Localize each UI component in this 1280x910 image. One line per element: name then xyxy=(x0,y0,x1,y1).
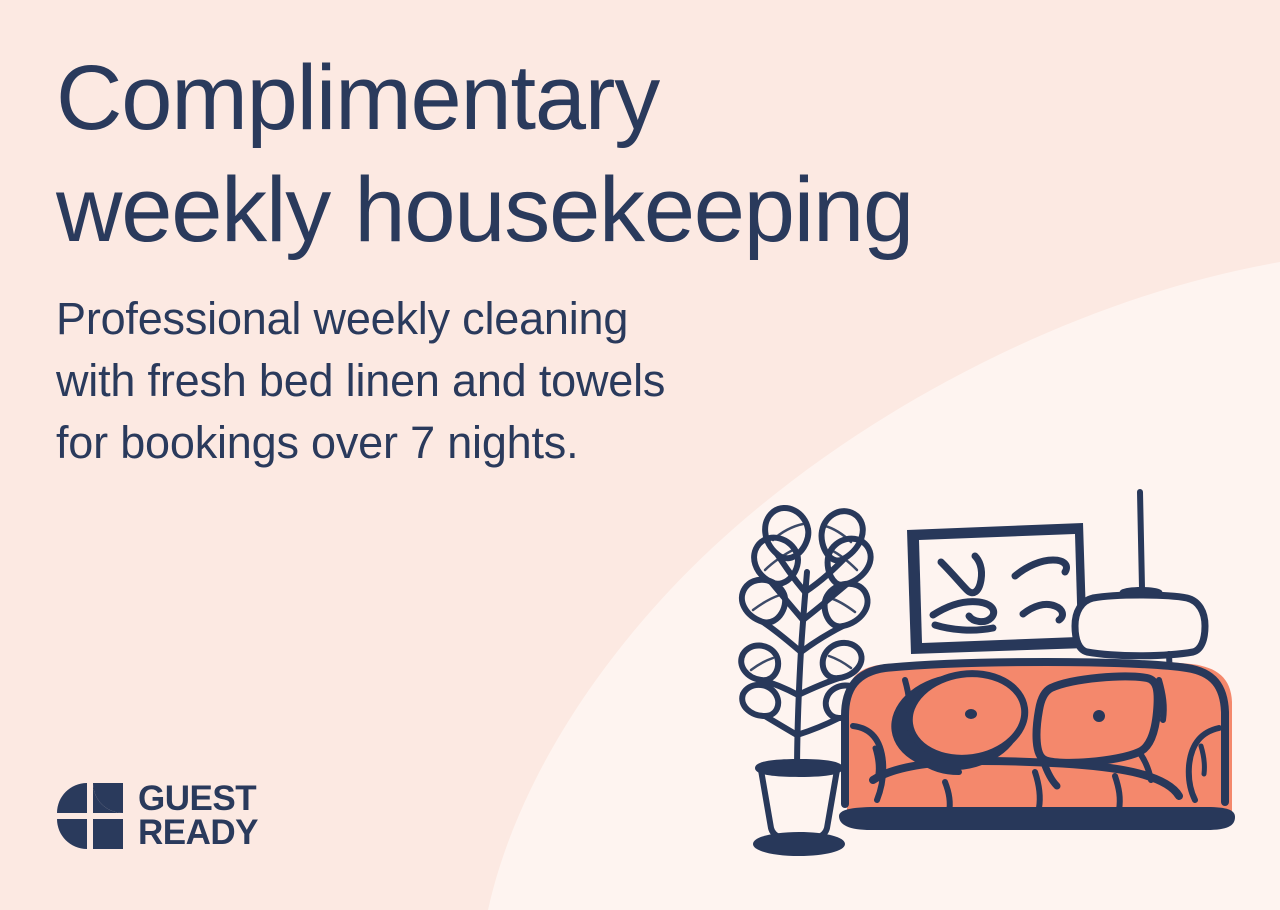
logo-word-ready: READY xyxy=(138,816,258,850)
text-block: Complimentary weekly housekeeping Profes… xyxy=(56,42,1056,474)
logo-wordmark: GUEST READY xyxy=(138,782,258,850)
guestready-mark-icon xyxy=(57,783,123,849)
promo-card: Complimentary weekly housekeeping Profes… xyxy=(0,0,1280,910)
logo-word-guest: GUEST xyxy=(138,782,258,816)
page-title: Complimentary weekly housekeeping xyxy=(56,42,1056,266)
page-subtitle: Professional weekly cleaning with fresh … xyxy=(56,266,1056,474)
guestready-logo[interactable]: GUEST READY xyxy=(57,782,258,850)
logo-quadrant-bottom-right xyxy=(93,819,123,849)
living-room-illustration xyxy=(735,480,1280,860)
plant-pot xyxy=(753,759,845,856)
framed-picture-icon xyxy=(907,523,1087,654)
logo-quadrant-bottom-left xyxy=(57,819,87,849)
logo-quadrant-top-left xyxy=(57,783,87,813)
